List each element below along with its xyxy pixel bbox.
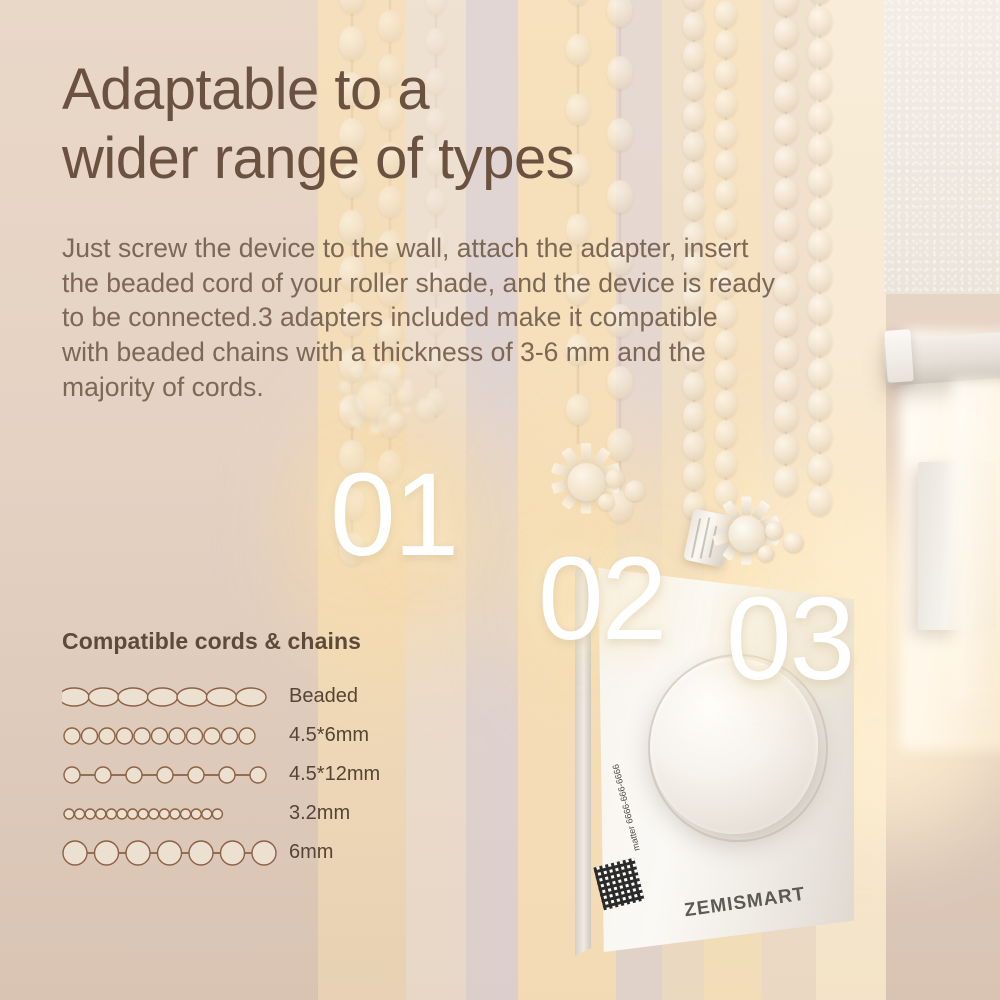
chain-bead [774,18,798,48]
chain-bead [774,466,798,496]
chain-bead [774,146,798,176]
chain-adapter [543,442,648,528]
legend-title: Compatible cords & chains [62,628,380,655]
compatible-cords-legend: Compatible cords & chains Beaded4.5*6mm4… [62,628,380,872]
chain-bead [566,0,590,5]
chain-bead [683,0,705,10]
chain-bead [808,134,832,164]
chain-bead [774,82,798,112]
chain-bead [808,486,832,516]
chain-type-icon [62,755,277,794]
chain-bead [808,454,832,484]
chain-bead [808,198,832,228]
gear-tooth [741,497,751,515]
chain-bead [683,192,705,220]
chain-bead [774,178,798,208]
step-number-01: 01 [330,456,457,574]
chain-adapter [704,496,805,579]
chain-bead [808,422,832,452]
chain-bead [683,462,705,490]
product-marketing-image: matter 6666-666-6666 ZEMISMART 01 02 03 … [0,0,1000,1000]
legend-row-label: 3.2mm [289,802,350,825]
legend-rows: Beaded4.5*6mm4.5*12mm3.2mm6mm [62,677,380,872]
headline-line-2: wider range of types [62,124,762,193]
adapter-bead [624,480,645,501]
legend-row: Beaded [62,677,380,716]
headline-line-1: Adaptable to a [62,55,762,124]
adapter-bead [784,532,804,552]
chain-type-icon [62,833,277,872]
body-line-3: to be connected.3 adapters included make… [62,300,922,335]
adapter-bead [605,469,624,488]
body-line-2: the beaded cord of your roller shade, an… [62,266,922,301]
chain-type-icon [62,794,277,833]
body-paragraph: Just screw the device to the wall, attac… [62,231,922,405]
step-number-02: 02 [538,540,665,658]
body-line-5: majority of cords. [62,370,922,405]
chain-bead [774,434,798,464]
chain-type-icon [62,716,277,755]
chain-bead [607,0,633,27]
chain-bead [774,50,798,80]
window-light [952,380,1000,700]
page-headline: Adaptable to a wider range of types [62,55,762,193]
chain-type-icon [62,677,277,716]
step-number-03: 03 [726,580,853,698]
adapter-bead [765,521,783,539]
chain-bead [808,166,832,196]
legend-row-label: 6mm [289,841,333,864]
chain-bead [715,450,737,478]
chain-bead [339,0,365,14]
legend-row: 4.5*6mm [62,716,380,755]
legend-row-label: 4.5*12mm [289,763,380,786]
chain-bead [715,30,737,58]
legend-row-label: Beaded [289,685,358,708]
chain-bead [808,102,832,132]
chain-bead [808,38,832,68]
chain-bead [774,114,798,144]
chain-bead [715,0,737,28]
chain-bead [683,432,705,460]
adapter-bead [598,494,615,511]
legend-row: 6mm [62,833,380,872]
chain-bead [808,0,832,4]
legend-row-label: 4.5*6mm [289,724,369,747]
legend-row: 3.2mm [62,794,380,833]
chain-bead [808,70,832,100]
body-line-1: Just screw the device to the wall, attac… [62,231,922,266]
chain-bead [426,28,446,55]
chain-bead [774,402,798,432]
chain-bead [715,420,737,448]
chain-bead [774,0,798,16]
legend-row: 4.5*12mm [62,755,380,794]
body-line-4: with beaded chains with a thickness of 3… [62,335,922,370]
adapter-bead [758,545,775,562]
chain-bead [378,10,402,42]
adapter-bead [388,412,406,430]
chain-bead [426,0,446,15]
chain-bead [808,6,832,36]
gear-tooth [581,443,591,462]
chain-bead [683,12,705,40]
chain-bead [683,402,705,430]
